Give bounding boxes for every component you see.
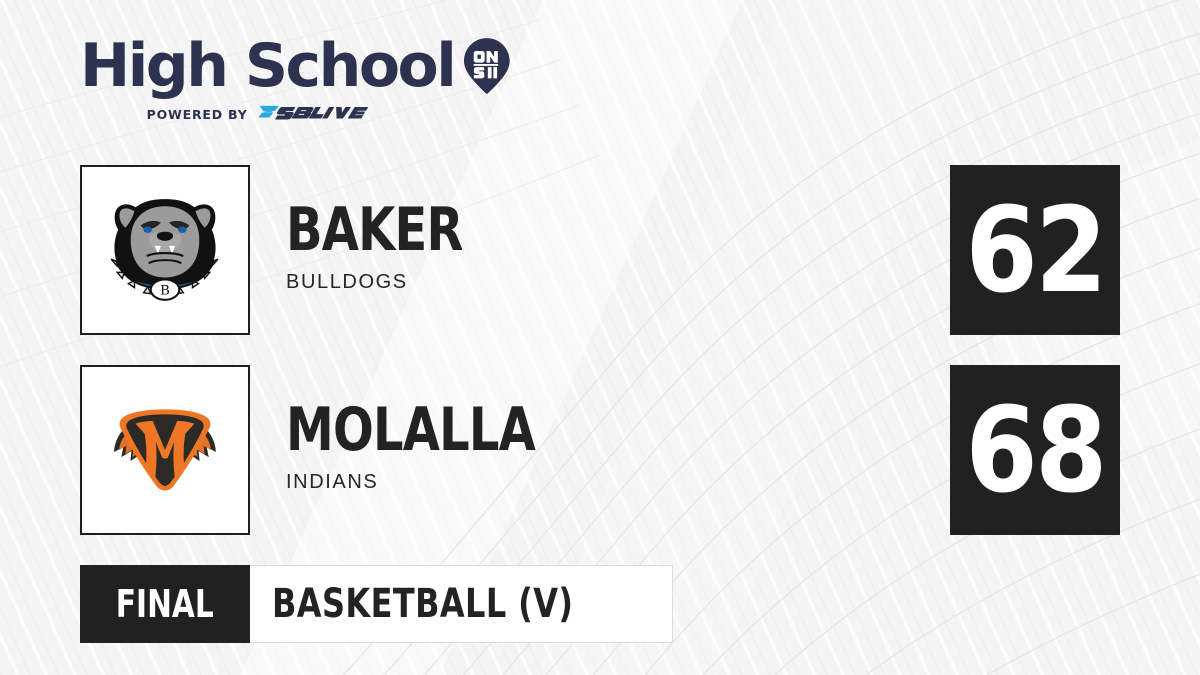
score-box: 62: [950, 165, 1120, 335]
scoreboard-stage: High School POWERED BY: [0, 0, 1200, 675]
status-bar: FINAL BASKETBALL (V): [80, 565, 673, 643]
team-mascot: INDIANS: [286, 471, 597, 494]
powered-by-row: POWERED BY: [80, 104, 452, 125]
svg-text:B: B: [160, 284, 170, 299]
team-logo-box: B: [80, 165, 250, 335]
team-text-block: BAKER BULLDOGS: [286, 201, 507, 294]
team-name: MOLALLA: [286, 401, 535, 459]
team-text-block: MOLALLA INDIANS: [286, 401, 597, 494]
team-mascot: BULLDOGS: [286, 271, 507, 294]
sport-label: BASKETBALL (V): [272, 584, 573, 624]
team-logo-box: [80, 365, 250, 535]
status-badge: FINAL: [80, 565, 250, 643]
score-value: 68: [965, 391, 1104, 509]
powered-by-label: POWERED BY: [147, 107, 248, 122]
page-title: High School: [80, 36, 454, 96]
brand-header: High School POWERED BY: [80, 34, 510, 134]
status-state-label: FINAL: [116, 585, 214, 623]
sport-label-box: BASKETBALL (V): [250, 565, 674, 643]
team-name: BAKER: [286, 201, 463, 259]
brand-wordmark: High School: [80, 34, 510, 98]
on-si-pin-icon: [464, 27, 510, 105]
bulldog-head-icon: B: [104, 189, 226, 311]
score-value: 62: [965, 191, 1104, 309]
sblive-logo-icon: [256, 104, 386, 125]
molalla-m-shield-icon: [104, 389, 226, 511]
score-box: 68: [950, 365, 1120, 535]
